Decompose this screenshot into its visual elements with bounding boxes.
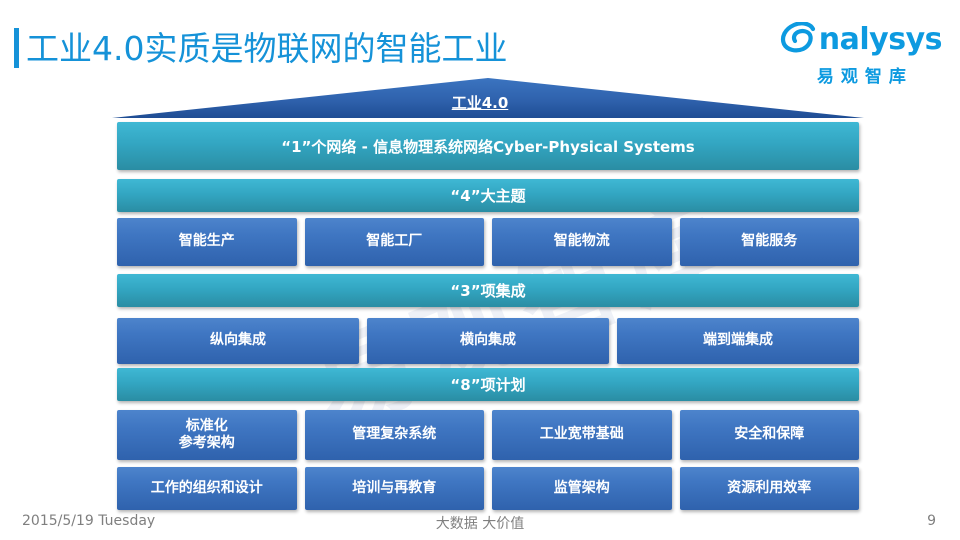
logo-main-row: nalysys	[780, 22, 942, 58]
pyramid-cell-row-5: 纵向集成横向集成端到端集成	[117, 318, 859, 364]
pyramid-cell: 端到端集成	[617, 318, 859, 364]
pyramid-cell: 培训与再教育	[305, 467, 485, 510]
title-text: 工业4.0实质是物联网的智能工业	[26, 32, 507, 65]
pyramid-band-6: “8”项计划	[117, 368, 859, 401]
pyramid-cell-row-8: 工作的组织和设计培训与再教育监管架构资源利用效率	[117, 467, 859, 510]
pyramid-band-2: “4”大主题	[117, 179, 859, 212]
cell-row: 智能生产智能工厂智能物流智能服务	[117, 218, 859, 266]
pyramid-cell: 管理复杂系统	[305, 410, 485, 460]
pyramid-cell: 标准化参考架构	[117, 410, 297, 460]
slide-canvas: 易观智库 工业4.0实质是物联网的智能工业 nalysys 易观智库	[0, 0, 960, 540]
pyramid-cell: 监管架构	[492, 467, 672, 510]
slide-footer: 2015/5/19 Tuesday 大数据 大价值 9	[0, 511, 960, 535]
pyramid-cell: 智能服务	[680, 218, 860, 266]
brand-logo: nalysys 易观智库	[780, 22, 942, 87]
pyramid-band-4: “3”项集成	[117, 274, 859, 307]
band-label: “3”项集成	[117, 274, 859, 307]
pyramid-cell: 资源利用效率	[680, 467, 860, 510]
cell-row: 纵向集成横向集成端到端集成	[117, 318, 859, 364]
pyramid-band-1: “1”个网络 - 信息物理系统网络Cyber-Physical Systems	[117, 122, 859, 170]
pyramid-cell: 工业宽带基础	[492, 410, 672, 460]
title-accent-bar	[14, 28, 19, 68]
pyramid-cell: 安全和保障	[680, 410, 860, 460]
pyramid-cell-row-3: 智能生产智能工厂智能物流智能服务	[117, 218, 859, 266]
page-title: 工业4.0实质是物联网的智能工业	[14, 28, 507, 68]
footer-page-number: 9	[927, 513, 936, 529]
pyramid-cell: 智能物流	[492, 218, 672, 266]
pyramid-cell: 智能生产	[117, 218, 297, 266]
footer-tagline: 大数据 大价值	[0, 513, 960, 533]
pyramid-cell: 横向集成	[367, 318, 609, 364]
pyramid-cell: 工作的组织和设计	[117, 467, 297, 510]
logo-chinese-name: 易观智库	[780, 62, 942, 87]
pyramid-cell: 智能工厂	[305, 218, 485, 266]
pyramid-cell-row-7: 标准化参考架构管理复杂系统工业宽带基础安全和保障	[117, 410, 859, 460]
band-label: “4”大主题	[117, 179, 859, 212]
logo-swirl-icon	[780, 22, 818, 58]
logo-wordmark: nalysys	[819, 25, 942, 55]
band-label: “8”项计划	[117, 368, 859, 401]
band-label: “1”个网络 - 信息物理系统网络Cyber-Physical Systems	[117, 122, 859, 170]
cell-row: 标准化参考架构管理复杂系统工业宽带基础安全和保障	[117, 410, 859, 460]
pyramid-cell: 纵向集成	[117, 318, 359, 364]
background-watermark: 易观智库	[288, 170, 711, 450]
pyramid-roof-label: 工业4.0	[0, 92, 960, 113]
cell-row: 工作的组织和设计培训与再教育监管架构资源利用效率	[117, 467, 859, 510]
